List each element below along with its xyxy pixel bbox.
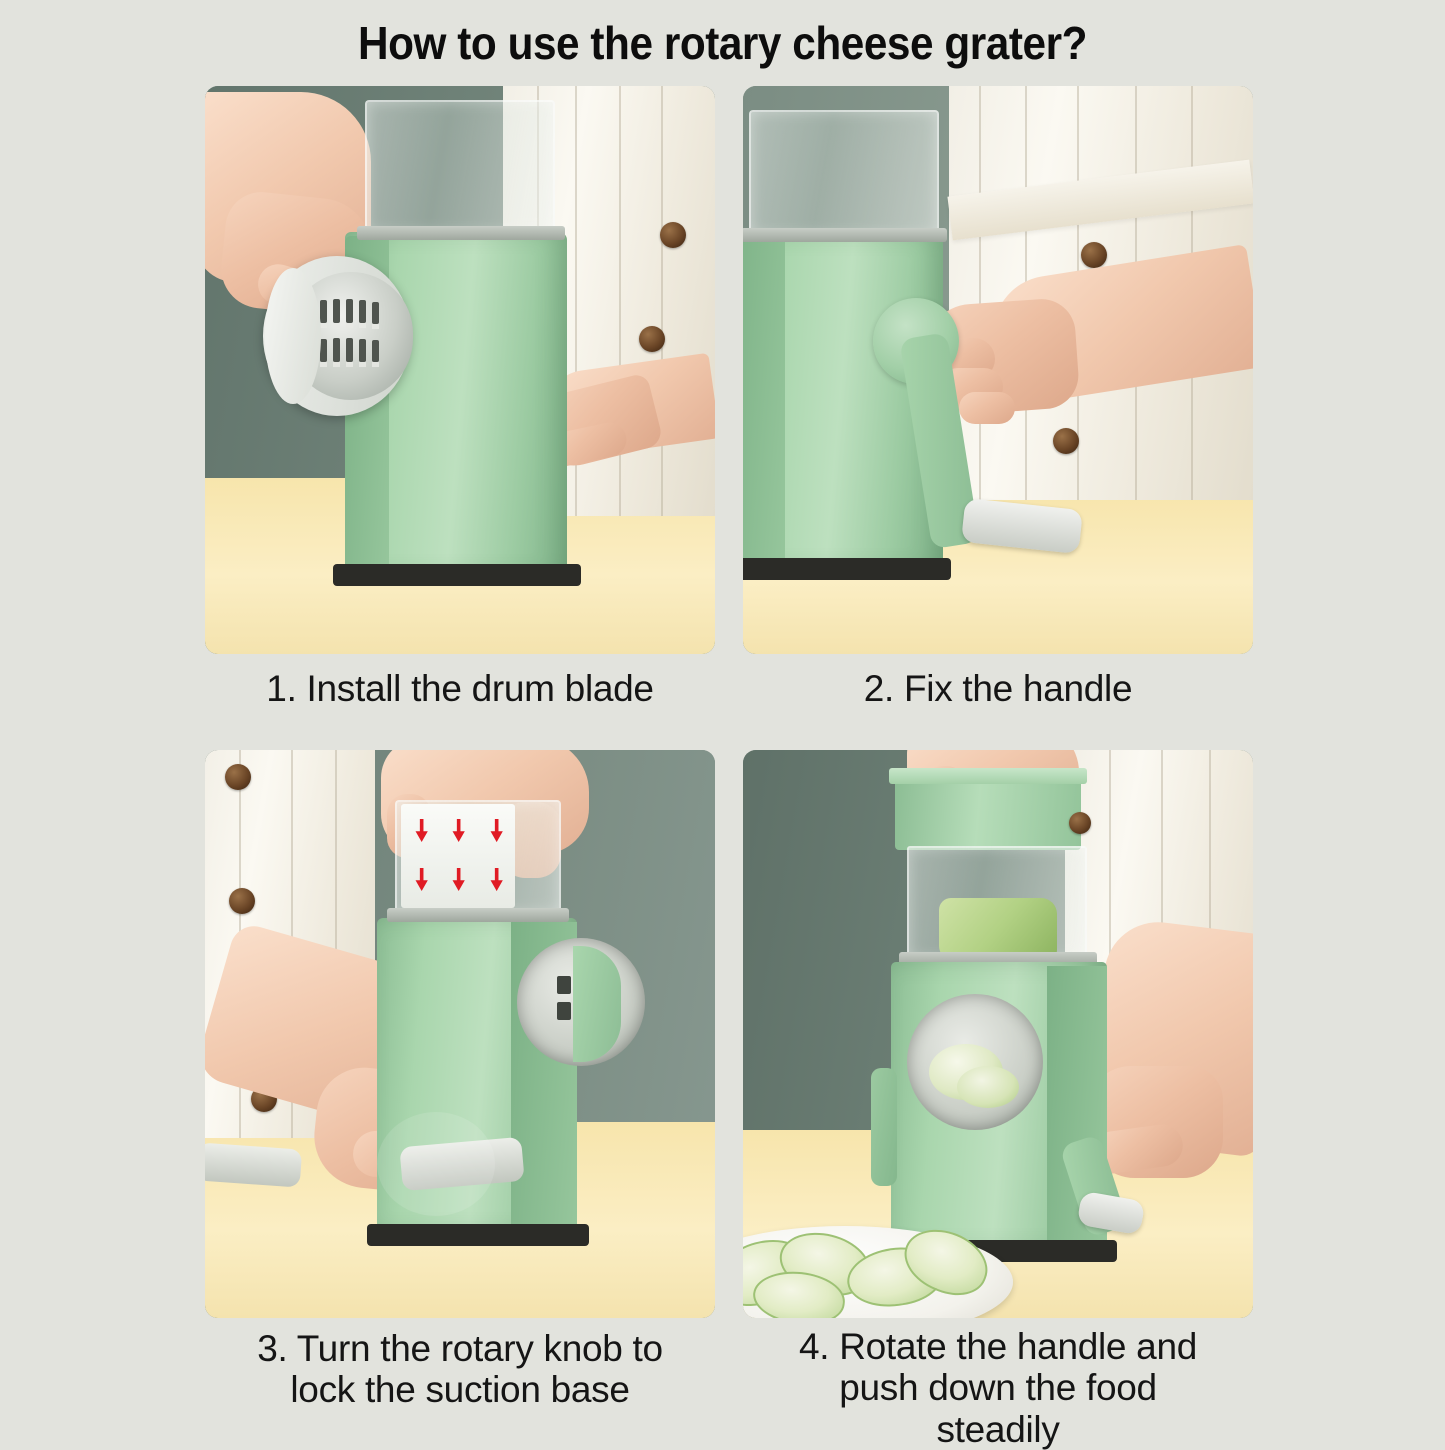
step-2-photo (743, 86, 1253, 654)
step-1-photo (205, 86, 715, 654)
arrow-down-icon (450, 861, 467, 898)
caption-line: 1. Install the drum blade (205, 668, 715, 709)
sliced-cucumber (957, 1066, 1019, 1108)
step-card-2: 2. Fix the handle (743, 86, 1253, 709)
grater-base (367, 1224, 589, 1246)
arrow-down-icon (488, 861, 505, 898)
hopper-rim (357, 226, 565, 240)
step-card-4: 4. Rotate the handle and push down the f… (743, 750, 1253, 1450)
step-3-photo (205, 750, 715, 1318)
caption-line: 2. Fix the handle (743, 668, 1253, 709)
dress-button (1081, 242, 1107, 268)
side-crank-shadow (871, 1068, 897, 1186)
grater-body-left-face (743, 236, 785, 568)
arrow-down-icon (413, 812, 430, 849)
push-down-arrows-group (413, 812, 505, 898)
dress-button (639, 326, 665, 352)
dress-button (229, 888, 255, 914)
knob-socket (377, 1112, 495, 1216)
step-2-caption: 2. Fix the handle (743, 654, 1253, 709)
hopper-rim (743, 228, 947, 242)
step-4-photo (743, 750, 1253, 1318)
drum-blade-end-cap (265, 268, 321, 404)
dress-button (1053, 428, 1079, 454)
arrow-down-icon (450, 812, 467, 849)
step-1-caption: 1. Install the drum blade (205, 654, 715, 709)
drum-cover-tab (573, 946, 621, 1062)
page-title: How to use the rotary cheese grater? (58, 16, 1387, 70)
grater-base (743, 558, 951, 580)
step-card-3: 3. Turn the rotary knob to lock the suct… (205, 750, 715, 1411)
arrow-down-icon (488, 812, 505, 849)
grater-base (333, 564, 581, 586)
pusher-lid-flange (889, 768, 1087, 784)
caption-line: steadily (743, 1409, 1253, 1450)
caption-line: lock the suction base (205, 1369, 715, 1410)
step-3-caption: 3. Turn the rotary knob to lock the suct… (205, 1318, 715, 1411)
caption-line: 4. Rotate the handle and (743, 1326, 1253, 1367)
clear-hopper (749, 110, 939, 234)
arrow-down-icon (413, 861, 430, 898)
finger (959, 392, 1015, 424)
dress-button (225, 764, 251, 790)
caption-line: 3. Turn the rotary knob to (205, 1328, 715, 1369)
detached-crank-grip (205, 1142, 302, 1187)
caption-line: push down the food (743, 1367, 1253, 1408)
lid-knob (1069, 812, 1091, 834)
cucumber-in-hopper (939, 898, 1057, 960)
dress-button (660, 222, 686, 248)
hopper-rim (387, 908, 569, 922)
step-card-1: 1. Install the drum blade (205, 86, 715, 709)
step-4-caption: 4. Rotate the handle and push down the f… (743, 1318, 1253, 1450)
steps-grid: 1. Install the drum blade (205, 86, 1253, 1316)
clear-hopper (365, 100, 555, 232)
drum-window (907, 994, 1043, 1130)
